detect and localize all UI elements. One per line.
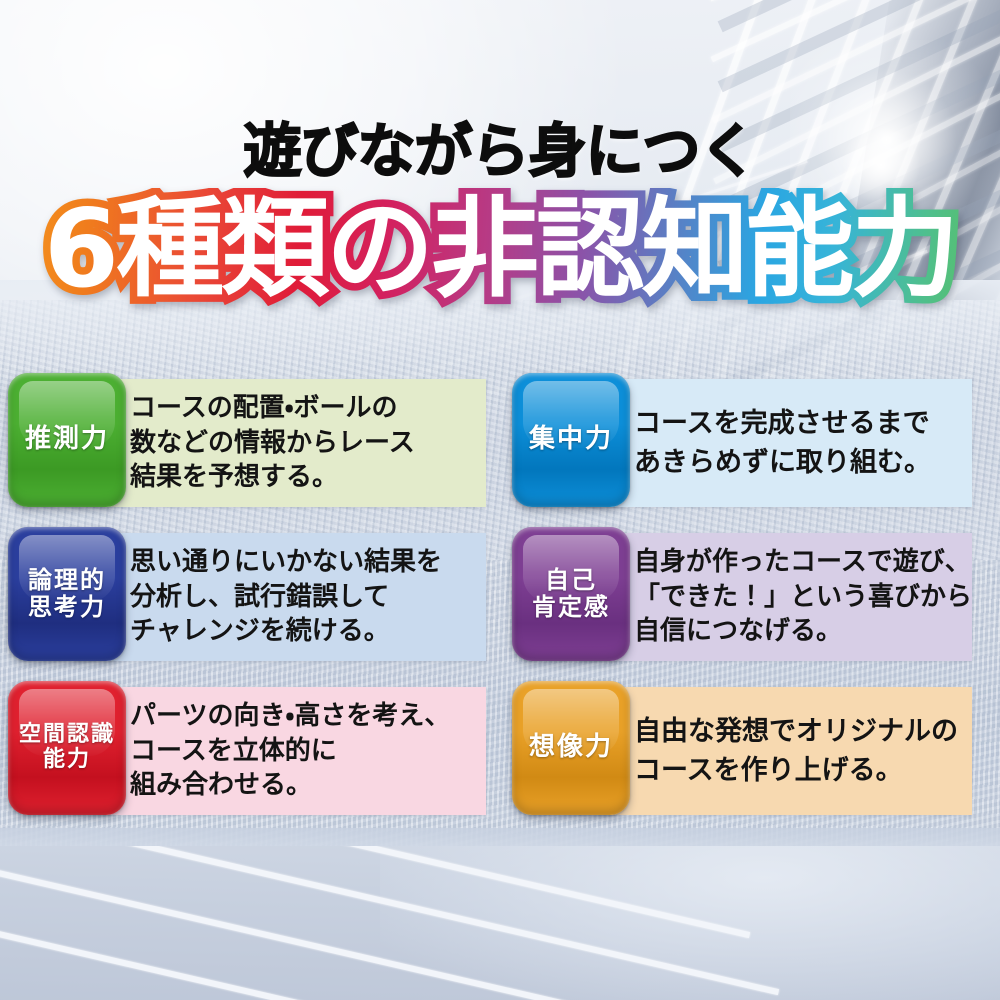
badge-label-line: 思考力: [28, 594, 106, 621]
ability-card-ronriteki-shikoryoku[interactable]: 論理的思考力思い通りにいかない結果を分析し、試行錯誤してチャレンジを続ける。: [8, 527, 486, 661]
badge-label-line: 能力: [19, 748, 115, 773]
badge-label: 論理的思考力: [28, 567, 106, 621]
badge-label-line: 肯定感: [532, 594, 610, 621]
ability-badge-ronriteki-shikoryoku[interactable]: 論理的思考力: [8, 527, 126, 661]
card-description-line: 結果を予想する。: [130, 460, 480, 495]
ability-card-shuchuryoku[interactable]: 集中力コースを完成させるまであきらめずに取り組む。: [512, 373, 972, 507]
ability-card-jiko-koteikan[interactable]: 自己肯定感自身が作ったコースで遊び、「できた！」という喜びから自信につなげる。: [512, 527, 972, 661]
ability-card-sozoryoku[interactable]: 想像力自由な発想でオリジナルのコースを作り上げる。: [512, 681, 972, 815]
badge-label-line: 空間認識: [19, 723, 115, 748]
badge-label: 推測力: [25, 425, 109, 454]
card-description-line: チャレンジを続ける。: [130, 614, 480, 649]
card-description-line: 思い通りにいかない結果を: [130, 545, 480, 580]
badge-label-line: 論理的: [28, 567, 106, 594]
ability-badge-jiko-koteikan[interactable]: 自己肯定感: [512, 527, 630, 661]
card-description: 思い通りにいかない結果を分析し、試行錯誤してチャレンジを続ける。: [130, 533, 480, 661]
badge-label: 集中力: [529, 425, 613, 454]
card-description: 自由な発想でオリジナルのコースを作り上げる。: [634, 687, 966, 815]
badge-label-line: 集中力: [529, 425, 613, 454]
card-description-line: 自信につなげる。: [634, 614, 966, 649]
card-description-line: 数などの情報からレース: [130, 426, 480, 461]
ability-badge-sozoryoku[interactable]: 想像力: [512, 681, 630, 815]
card-description-line: パーツの向き・高さを考え、: [130, 699, 480, 734]
badge-label: 自己肯定感: [532, 567, 610, 621]
card-description: パーツの向き・高さを考え、コースを立体的に組み合わせる。: [130, 687, 480, 815]
card-description-line: あきらめずに取り組む。: [634, 443, 966, 482]
ability-badge-shuchuryoku[interactable]: 集中力: [512, 373, 630, 507]
card-description-line: 組み合わせる。: [130, 768, 480, 803]
badge-label-line: 推測力: [25, 425, 109, 454]
ability-badge-suisokuryoku[interactable]: 推測力: [8, 373, 126, 507]
card-description-line: コースを作り上げる。: [634, 751, 966, 790]
card-description-line: 分析し、試行錯誤して: [130, 580, 480, 615]
card-description: 自身が作ったコースで遊び、「できた！」という喜びから自信につなげる。: [634, 533, 966, 661]
ability-card-grid: 推測力コースの配置・ボールの数などの情報からレース結果を予想する。集中力コースを…: [0, 0, 1000, 1000]
card-description: コースの配置・ボールの数などの情報からレース結果を予想する。: [130, 379, 480, 507]
card-description-line: 「できた！」という喜びから: [634, 580, 966, 615]
card-description-line: コースを立体的に: [130, 734, 480, 769]
badge-label-line: 自己: [532, 567, 610, 594]
ability-card-suisokuryoku[interactable]: 推測力コースの配置・ボールの数などの情報からレース結果を予想する。: [8, 373, 486, 507]
card-description-line: 自身が作ったコースで遊び、: [634, 545, 966, 580]
card-description: コースを完成させるまであきらめずに取り組む。: [634, 379, 966, 507]
ability-card-kukan-ninshiki-noryoku[interactable]: 空間認識能力パーツの向き・高さを考え、コースを立体的に組み合わせる。: [8, 681, 486, 815]
badge-label: 空間認識能力: [19, 723, 115, 772]
badge-label: 想像力: [529, 733, 613, 762]
card-description-line: コースの配置・ボールの: [130, 391, 480, 426]
card-description-line: 自由な発想でオリジナルの: [634, 712, 966, 751]
ability-badge-kukan-ninshiki-noryoku[interactable]: 空間認識能力: [8, 681, 126, 815]
card-description-line: コースを完成させるまで: [634, 404, 966, 443]
badge-label-line: 想像力: [529, 733, 613, 762]
poster-canvas: 遊びながら身につく 6種類の非認知能力 6種類の非認知能力 推測力コースの配置・…: [0, 0, 1000, 1000]
